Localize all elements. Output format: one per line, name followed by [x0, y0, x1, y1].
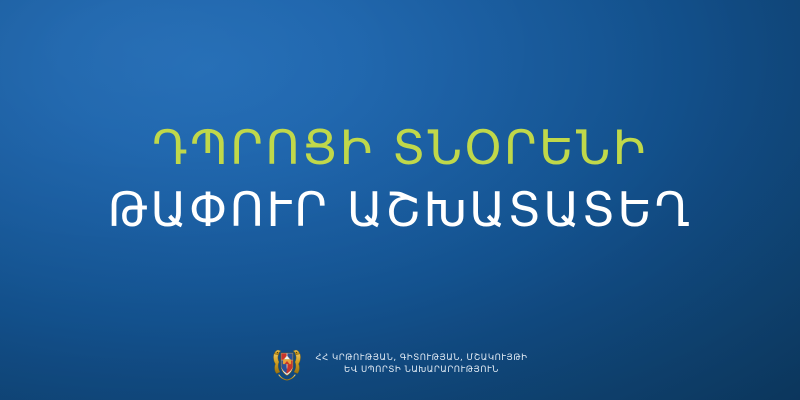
- announcement-banner: ԴՊՐՈՑԻ ՏՆՕՐԵՆԻ ԹԱՓՈՒՐ ԱՇԽԱՏԱՏԵՂ: [0, 0, 800, 400]
- headline-line-primary: ԴՊՐՈՑԻ ՏՆՕՐԵՆԻ: [0, 118, 800, 180]
- headline-block: ԴՊՐՈՑԻ ՏՆՕՐԵՆԻ ԹԱՓՈՒՐ ԱՇԽԱՏԱՏԵՂ: [0, 118, 800, 242]
- ministry-name: ՀՀ ԿՐԹՈՒԹՅԱՆ, ԳԻՏՈՒԹՅԱՆ, ՄՇԱԿՈՒՅԹԻ ԵՎ ՍՊ…: [315, 352, 527, 376]
- ministry-line-2: ԵՎ ՍՊՈՐՏԻ ՆԱԽԱՐԱՐՈՒԹՅՈՒՆ: [344, 364, 499, 376]
- armenian-coat-of-arms-icon: [272, 346, 302, 383]
- headline-line-secondary: ԹԱՓՈՒՐ ԱՇԽԱՏԱՏԵՂ: [0, 180, 800, 242]
- ministry-line-1: ՀՀ ԿՐԹՈՒԹՅԱՆ, ԳԻՏՈՒԹՅԱՆ, ՄՇԱԿՈՒՅԹԻ: [315, 352, 527, 364]
- footer-branding: ՀՀ ԿՐԹՈՒԹՅԱՆ, ԳԻՏՈՒԹՅԱՆ, ՄՇԱԿՈՒՅԹԻ ԵՎ ՍՊ…: [0, 336, 800, 392]
